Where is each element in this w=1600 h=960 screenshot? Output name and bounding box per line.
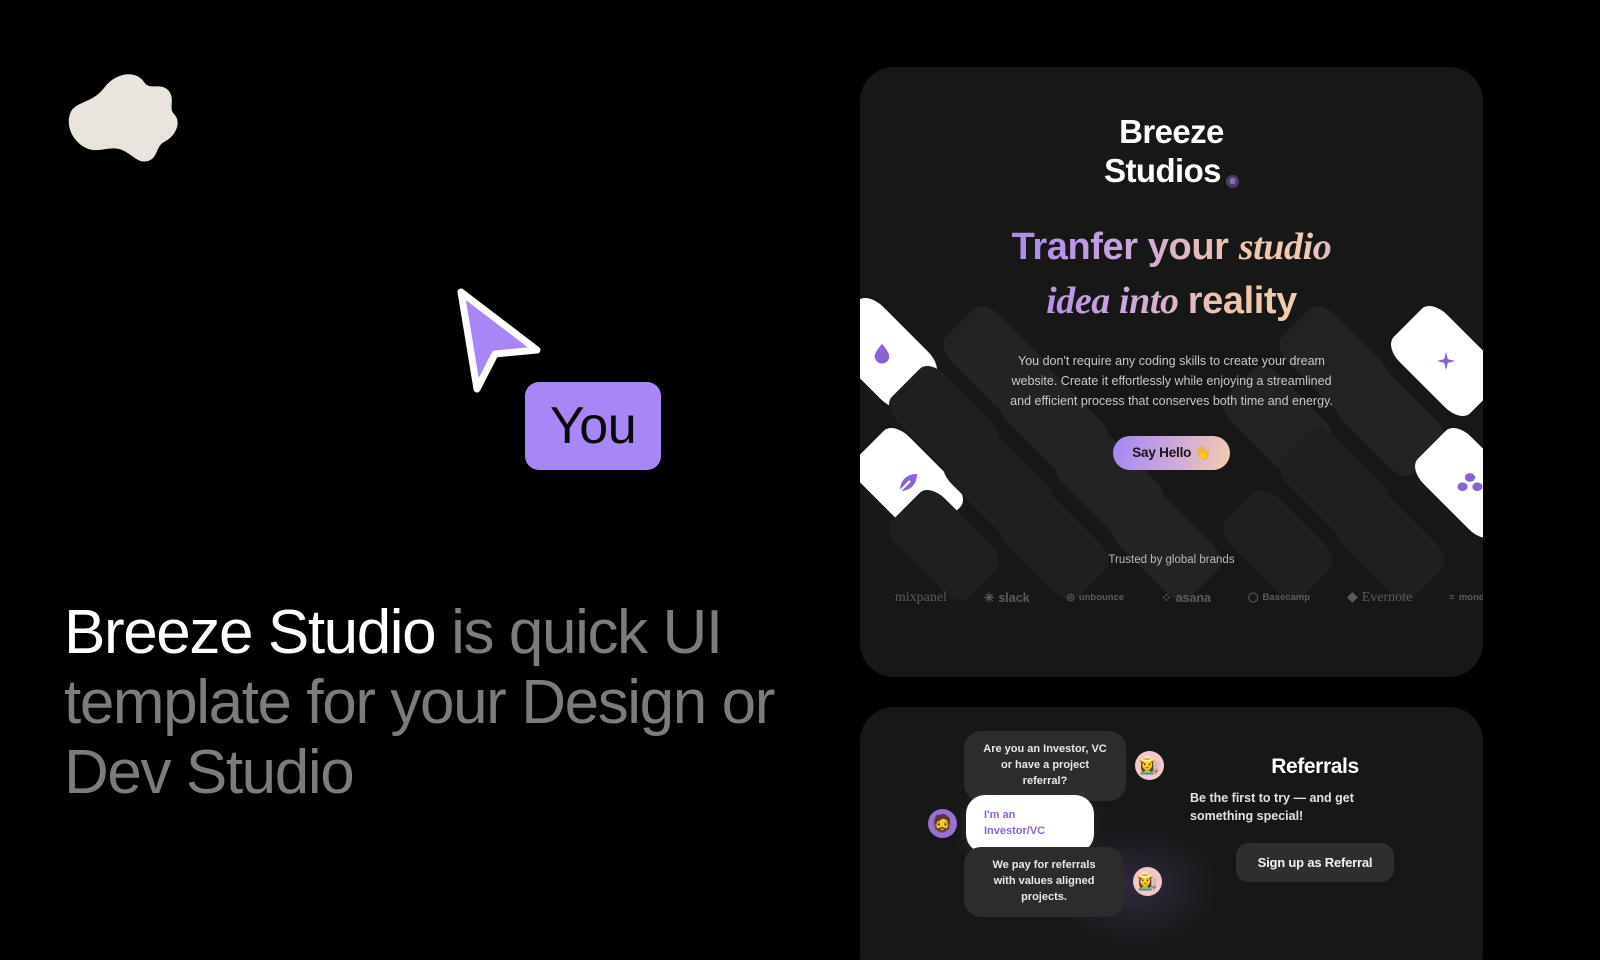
tagline-highlight: Breeze Studio <box>64 598 435 667</box>
waving-hand-icon: 👋 <box>1194 445 1211 461</box>
slack-icon: ✳ <box>984 590 994 605</box>
brand-logo-slack: ✳slack <box>984 590 1030 605</box>
hero-preview-card[interactable]: Breeze Studios® Tranfer your studio idea… <box>860 67 1483 677</box>
sign-up-as-referral-button[interactable]: Sign up as Referral <box>1236 843 1395 882</box>
referrals-title: Referrals <box>1190 755 1440 779</box>
registered-trademark-icon: ® <box>1226 175 1239 188</box>
hero-subtitle: You don't require any coding skills to c… <box>1007 351 1337 412</box>
say-hello-label: Say Hello <box>1132 445 1191 460</box>
brand-logo-basecamp: ◯Basecamp <box>1248 592 1310 603</box>
evernote-icon: ◆ <box>1347 589 1358 606</box>
referrals-subtitle: Be the first to try — and get something … <box>1190 789 1390 825</box>
avatar-user: 🧔 <box>928 809 957 838</box>
brand-logo-evernote: ◆Evernote <box>1347 589 1412 606</box>
cursor-name-badge[interactable]: You <box>525 382 661 470</box>
brand-logo: Breeze Studios® <box>1104 113 1239 191</box>
brand-logo-unbounce: ◎unbounce <box>1067 592 1125 603</box>
chat-thread: Are you an Investor, VC or have a projec… <box>860 707 1220 960</box>
say-hello-button[interactable]: Say Hello 👋 <box>1113 436 1230 470</box>
chat-bubble-agent-2: We pay for referrals with values aligned… <box>964 847 1124 917</box>
brand-logo-slack-label: slack <box>998 591 1029 605</box>
pointer-cursor-icon <box>455 288 545 393</box>
cursor-name-label: You <box>550 400 636 452</box>
chat-message-row: 🧔 I'm an Investor/VC <box>928 795 1094 853</box>
page-root: You Breeze Studio is quick UI template f… <box>0 0 1600 960</box>
brand-line-2-wrap: Studios® <box>1104 152 1239 191</box>
basecamp-icon: ◯ <box>1248 592 1259 603</box>
referrals-panel: Referrals Be the first to try — and get … <box>1190 755 1440 882</box>
brand-logo-asana: ⁘asana <box>1161 590 1211 605</box>
brand-line-2: Studios <box>1104 152 1221 189</box>
chat-bubble-user-reply[interactable]: I'm an Investor/VC <box>966 795 1094 853</box>
avatar-agent: 👩‍🌾 <box>1135 751 1164 780</box>
brand-line-1: Breeze <box>1104 113 1239 152</box>
chat-message-row: We pay for referrals with values aligned… <box>964 847 1162 917</box>
brand-logo-mixpanel-label: mixpanel <box>895 590 947 606</box>
brand-logo-unbounce-label: unbounce <box>1079 592 1124 603</box>
brand-logo-basecamp-label: Basecamp <box>1263 592 1311 603</box>
referrals-chat-card[interactable]: Are you an Investor, VC or have a projec… <box>860 707 1483 960</box>
brand-logo-row: ffer mixpanel ✳slack ◎unbounce ⁘asana ◯B… <box>860 589 1483 606</box>
brand-logo-asana-label: asana <box>1176 591 1211 605</box>
headline-part-2: studio <box>1239 226 1332 268</box>
hero-headline: Tranfer your studio idea into reality <box>962 221 1382 329</box>
page-title: Breeze Studio is quick UI template for y… <box>64 598 804 808</box>
headline-part-3: idea into <box>1046 280 1188 322</box>
headline-part-1: Tranfer your <box>1012 226 1239 268</box>
asana-icon: ⁘ <box>1161 590 1171 605</box>
brand-logo-mixpanel: mixpanel <box>895 590 947 606</box>
chat-message-row: Are you an Investor, VC or have a projec… <box>964 731 1164 801</box>
chat-bubble-agent-1: Are you an Investor, VC or have a projec… <box>964 731 1126 801</box>
brand-logo-monday: ≡monday.... <box>1449 592 1483 603</box>
decorative-blob <box>64 68 182 163</box>
unbounce-icon: ◎ <box>1067 592 1075 603</box>
trusted-by-label: Trusted by global brands <box>860 554 1483 566</box>
brand-logo-evernote-label: Evernote <box>1362 590 1413 606</box>
monday-icon: ≡ <box>1449 592 1455 603</box>
headline-part-4: reality <box>1188 280 1297 322</box>
avatar-agent: 👩‍🌾 <box>1133 867 1162 896</box>
brand-logo-monday-label: monday.... <box>1459 592 1483 603</box>
